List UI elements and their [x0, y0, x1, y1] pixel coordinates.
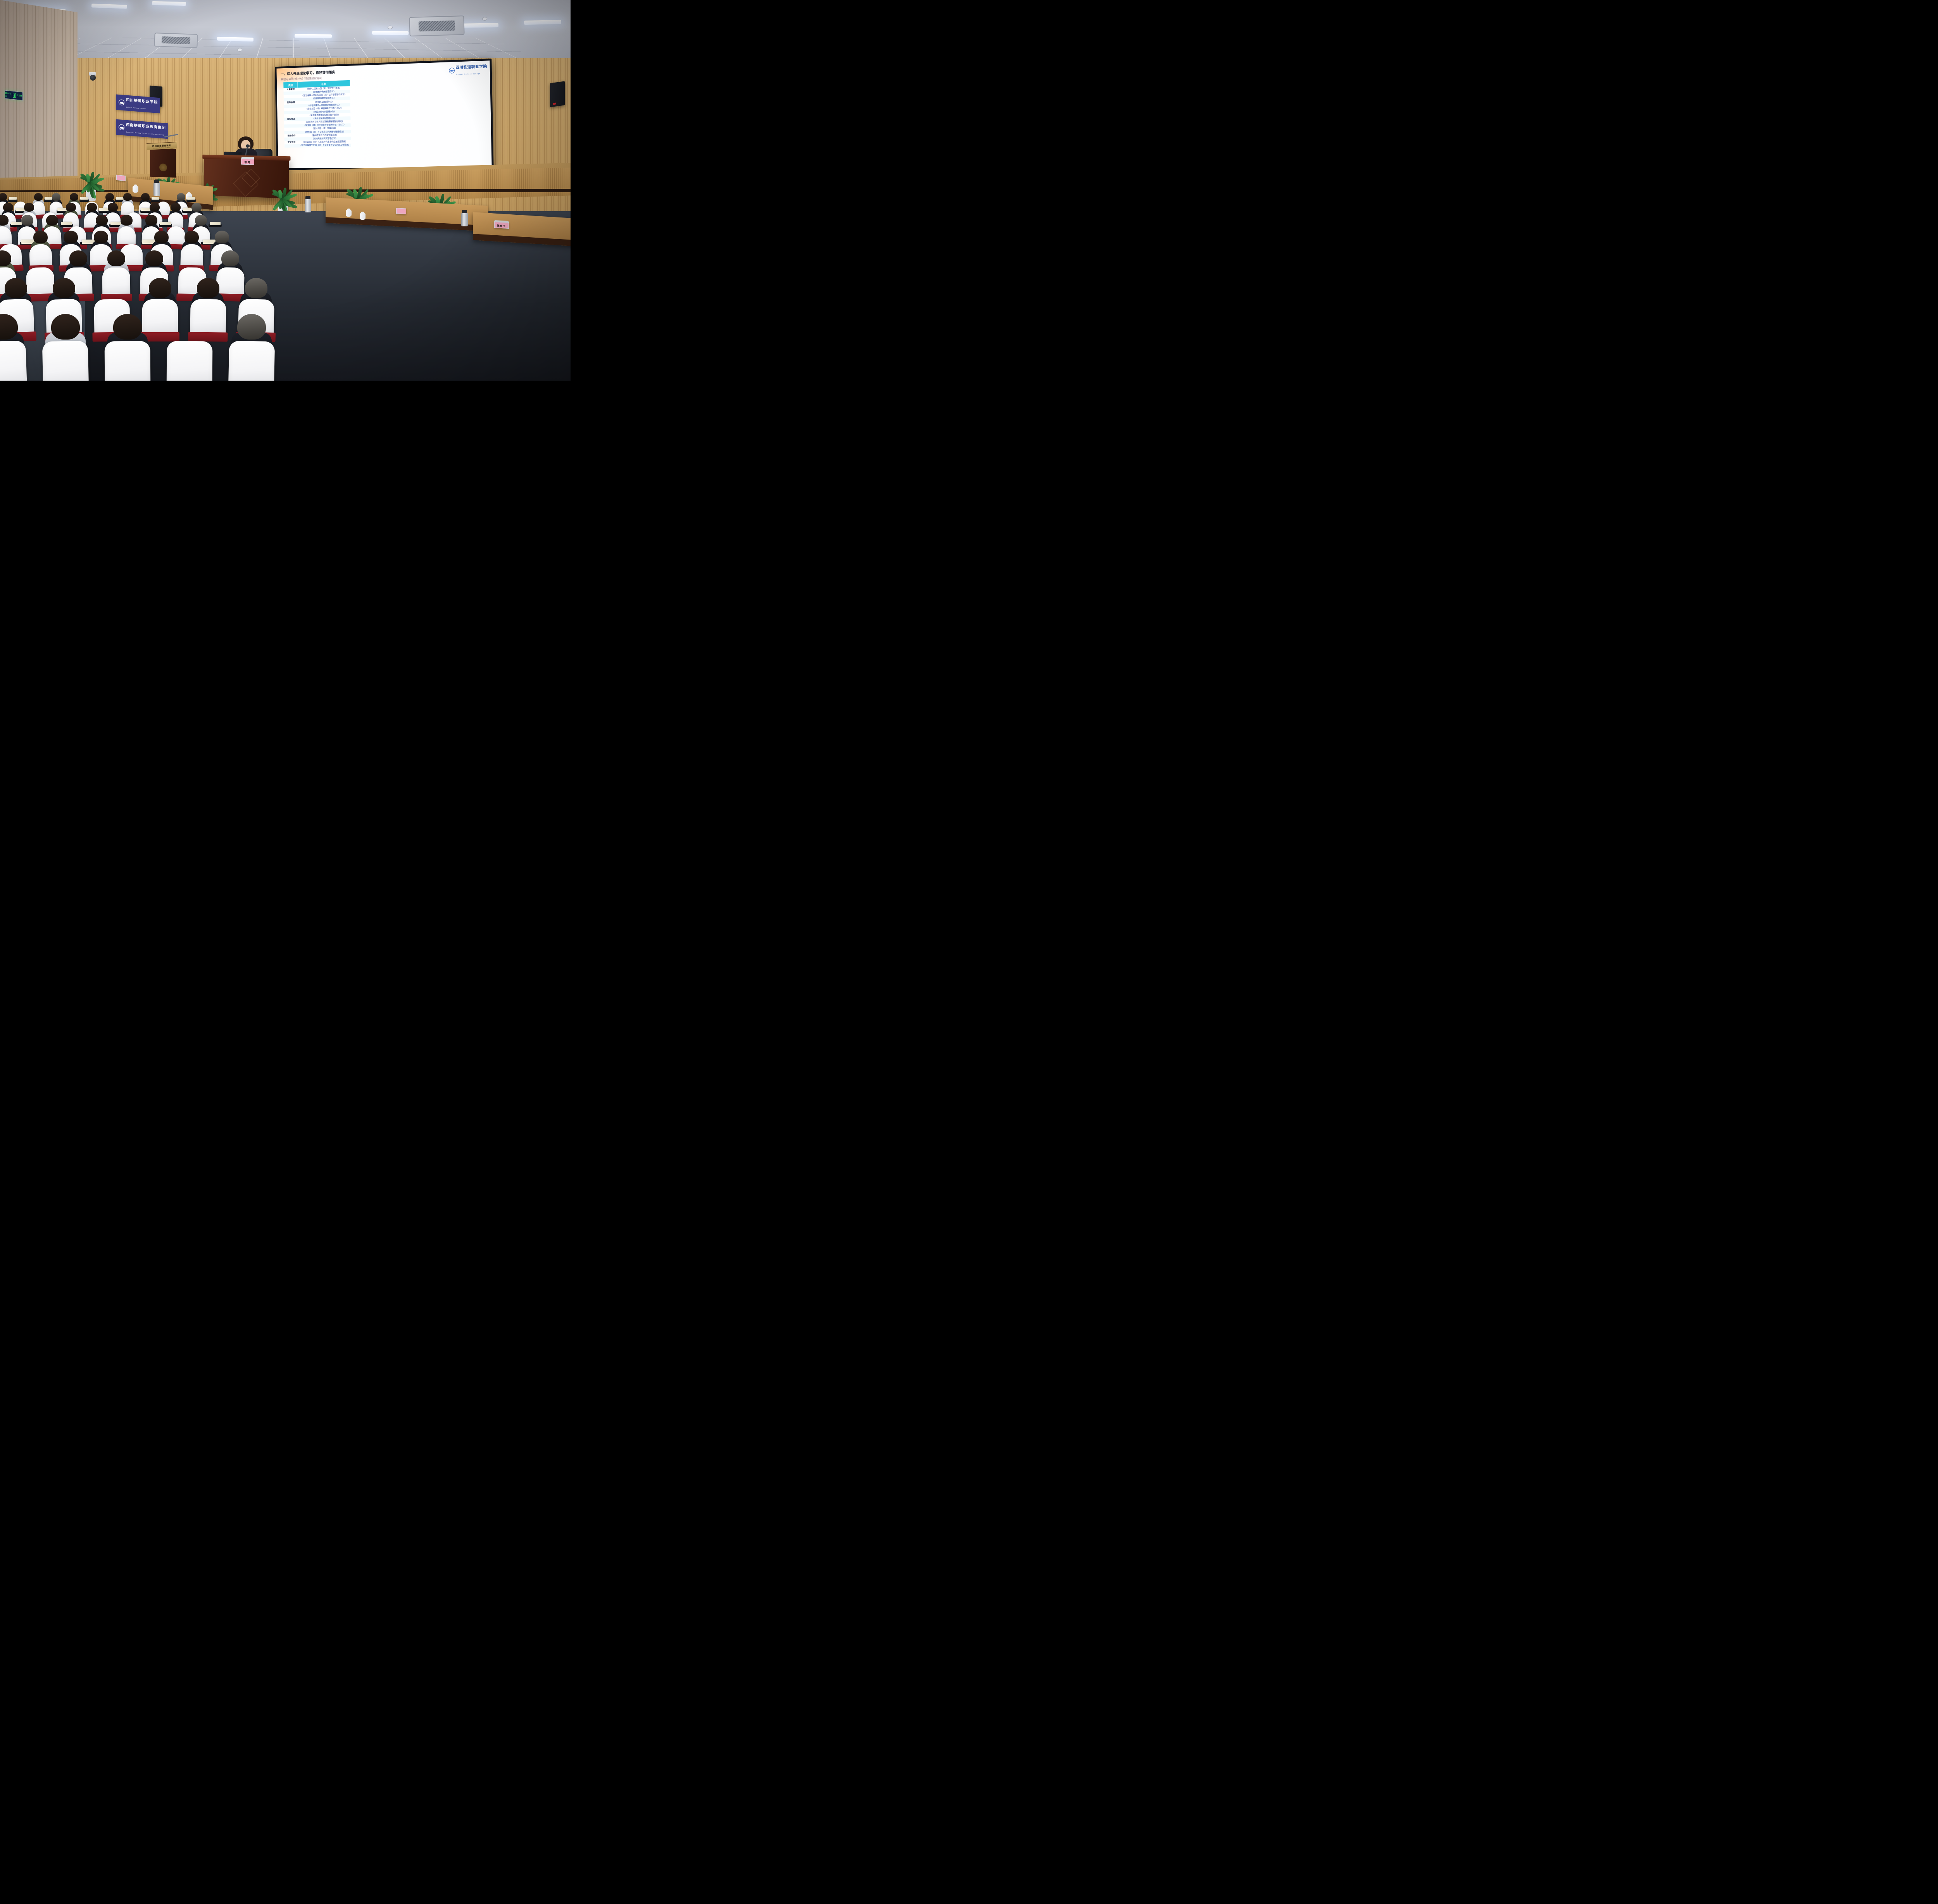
auditorium-seat[interactable] — [0, 340, 27, 381]
table-nameplate-blank — [396, 208, 406, 214]
thermos-flask — [461, 212, 468, 226]
notebook — [11, 222, 22, 225]
audience-member-head — [24, 203, 34, 212]
notebook — [160, 222, 171, 225]
thermos-flask — [305, 198, 311, 212]
audience-member-head — [121, 215, 133, 226]
ceiling-light — [460, 23, 498, 28]
audience-member-head — [107, 250, 125, 266]
audience-member-head — [105, 193, 114, 201]
audience-member-head — [51, 314, 80, 340]
notebook — [57, 208, 66, 211]
slide-header: 一、深入开展理论学习，抓好贯彻落实 其他兄弟院校对外合作制度建设情况 — [281, 64, 487, 81]
running-person-icon — [13, 93, 16, 98]
seat-writing-tablet — [8, 199, 17, 202]
audience-member-head — [184, 231, 199, 243]
table-nameplate-blank — [116, 175, 126, 181]
table-row: 《防范化解学生在国（境）外突发事件安全风险工作预案》 — [284, 143, 351, 147]
projection-screen-frame: 四川铁道职业学院 Sichuan Railway College 一、深入开展理… — [275, 59, 494, 170]
auditorium-seat[interactable] — [42, 341, 89, 381]
audience-member-head — [87, 203, 97, 212]
notebook — [183, 208, 192, 211]
group-emblem-icon — [119, 124, 124, 131]
audience-member-head — [34, 193, 43, 201]
camera-dome — [90, 75, 96, 81]
auditorium-seat[interactable] — [228, 341, 275, 381]
teacup — [133, 186, 138, 193]
ceiling-downlight — [482, 17, 487, 21]
nameplate-header-strip — [241, 157, 254, 160]
audience-member-head — [66, 203, 76, 212]
table-cell-category — [284, 144, 299, 148]
audience-member-head — [215, 231, 229, 243]
notebook — [16, 208, 24, 211]
auditorium-seat[interactable] — [167, 341, 213, 381]
auditorium-seat[interactable] — [26, 267, 55, 299]
seat-writing-tablet — [79, 199, 89, 202]
ceiling-light — [372, 31, 409, 35]
ceiling-light — [524, 20, 561, 25]
exit-label-cn: 安全出口 — [5, 92, 12, 98]
wall-speaker-right — [550, 81, 565, 107]
wall-sign-en: Southwest Railway Vocational Education G… — [126, 131, 164, 136]
audience-member-head — [3, 203, 13, 212]
audience-member-head — [237, 314, 266, 340]
seat-writing-tablet — [151, 199, 160, 202]
slide-table: 类别 名称 人事管理《教职工因私出国（境）管理暂行办法》《外籍教师聘用管理办法》… — [283, 80, 351, 148]
notebook — [116, 197, 124, 200]
projection-screen: 四川铁道职业学院 Sichuan Railway College 一、深入开展理… — [276, 60, 491, 168]
audience-member-head — [195, 215, 207, 226]
audience-member-head — [52, 193, 60, 201]
potted-plant — [76, 171, 106, 201]
speaker-nameplate: 赖芳 — [241, 159, 254, 165]
ceiling-downlight — [237, 48, 242, 52]
college-emblem-icon — [119, 99, 124, 105]
table-body: 人事管理《教职工因私出国（境）管理暂行办法》《外籍教师聘用管理办法》《登记备案人… — [283, 86, 351, 147]
audience-member-head — [197, 278, 219, 298]
teacup — [360, 213, 366, 220]
ceiling-light — [295, 34, 332, 38]
table-header-category: 类别 — [283, 82, 298, 88]
notebook — [80, 197, 88, 200]
table-cell-category: 安全保卫 — [284, 141, 299, 144]
audience-member-head — [141, 193, 150, 201]
lectern-body — [150, 147, 176, 178]
audience-member-head — [145, 250, 163, 266]
air-conditioner-unit — [409, 16, 464, 36]
table-cell-name: 《防范化解学生在国（境）外突发事件安全风险工作预案》 — [299, 143, 351, 147]
auditorium-seat[interactable] — [105, 341, 151, 381]
audience-member-head — [33, 231, 48, 243]
audience-member-head — [177, 193, 185, 201]
audience-member-head — [221, 250, 239, 266]
auditorium-seat[interactable] — [102, 267, 130, 298]
notebook — [9, 197, 17, 200]
audience-member-head — [145, 215, 157, 226]
wall-sign-en: Sichuan Railway College — [126, 106, 146, 109]
notebook — [152, 197, 159, 200]
audience-member-head — [96, 215, 108, 226]
notebook — [61, 222, 72, 225]
auditorium-seat[interactable] — [29, 244, 52, 269]
audience-member-head — [150, 203, 160, 212]
thermos-flask — [153, 182, 160, 196]
audience-member-head — [70, 193, 78, 201]
conference-hall-photo: 安全出口 EXIT 四川铁道职业学院 Sichuan Railway Colle… — [0, 0, 571, 381]
exit-label-en: EXIT — [17, 95, 22, 98]
audience-member-head — [191, 203, 202, 212]
audience-member-head — [149, 278, 171, 298]
audience-member-head — [0, 193, 7, 201]
table-nameplate: 池秋平 — [494, 221, 509, 229]
nameplate-header-strip — [495, 220, 509, 223]
audience-member-head — [123, 193, 132, 201]
audience-member-head — [154, 231, 169, 243]
notebook — [187, 197, 195, 200]
attendee-name: 池秋平 — [497, 225, 506, 228]
notebook — [45, 197, 52, 200]
wall-sign-cn: 西南铁道职业教育集团 — [126, 123, 166, 130]
audience-member-head — [0, 215, 9, 226]
auditorium-seat[interactable] — [180, 244, 203, 269]
audience-member-head — [94, 231, 108, 243]
ptz-dome-camera-icon — [88, 72, 97, 82]
notebook — [210, 222, 221, 225]
ceiling-light — [91, 3, 127, 9]
audience-member-head — [21, 215, 33, 226]
teacup — [346, 210, 352, 217]
auditorium-seat[interactable] — [142, 299, 178, 338]
audience-member-head — [245, 278, 267, 298]
audience-member-head — [5, 278, 27, 298]
ceiling-light — [152, 1, 186, 6]
audience-member-head — [46, 215, 58, 226]
audience-member-head — [113, 314, 142, 340]
notebook — [99, 208, 108, 211]
ceiling — [0, 0, 571, 68]
auditorium-seat[interactable] — [190, 299, 226, 338]
audience-member-head — [69, 250, 87, 266]
audience-member-head — [53, 278, 75, 298]
air-conditioner-unit — [154, 33, 198, 48]
audience-member-head — [108, 203, 118, 212]
seat-writing-tablet — [186, 199, 196, 202]
ceiling-downlight — [388, 26, 393, 29]
audience-member-head — [64, 231, 78, 243]
wall-sign-cn: 四川铁道职业学院 — [126, 98, 158, 104]
speaker-name: 赖芳 — [245, 161, 251, 164]
notebook — [141, 208, 150, 211]
notebook — [110, 222, 121, 225]
audience-member-head — [171, 203, 181, 212]
